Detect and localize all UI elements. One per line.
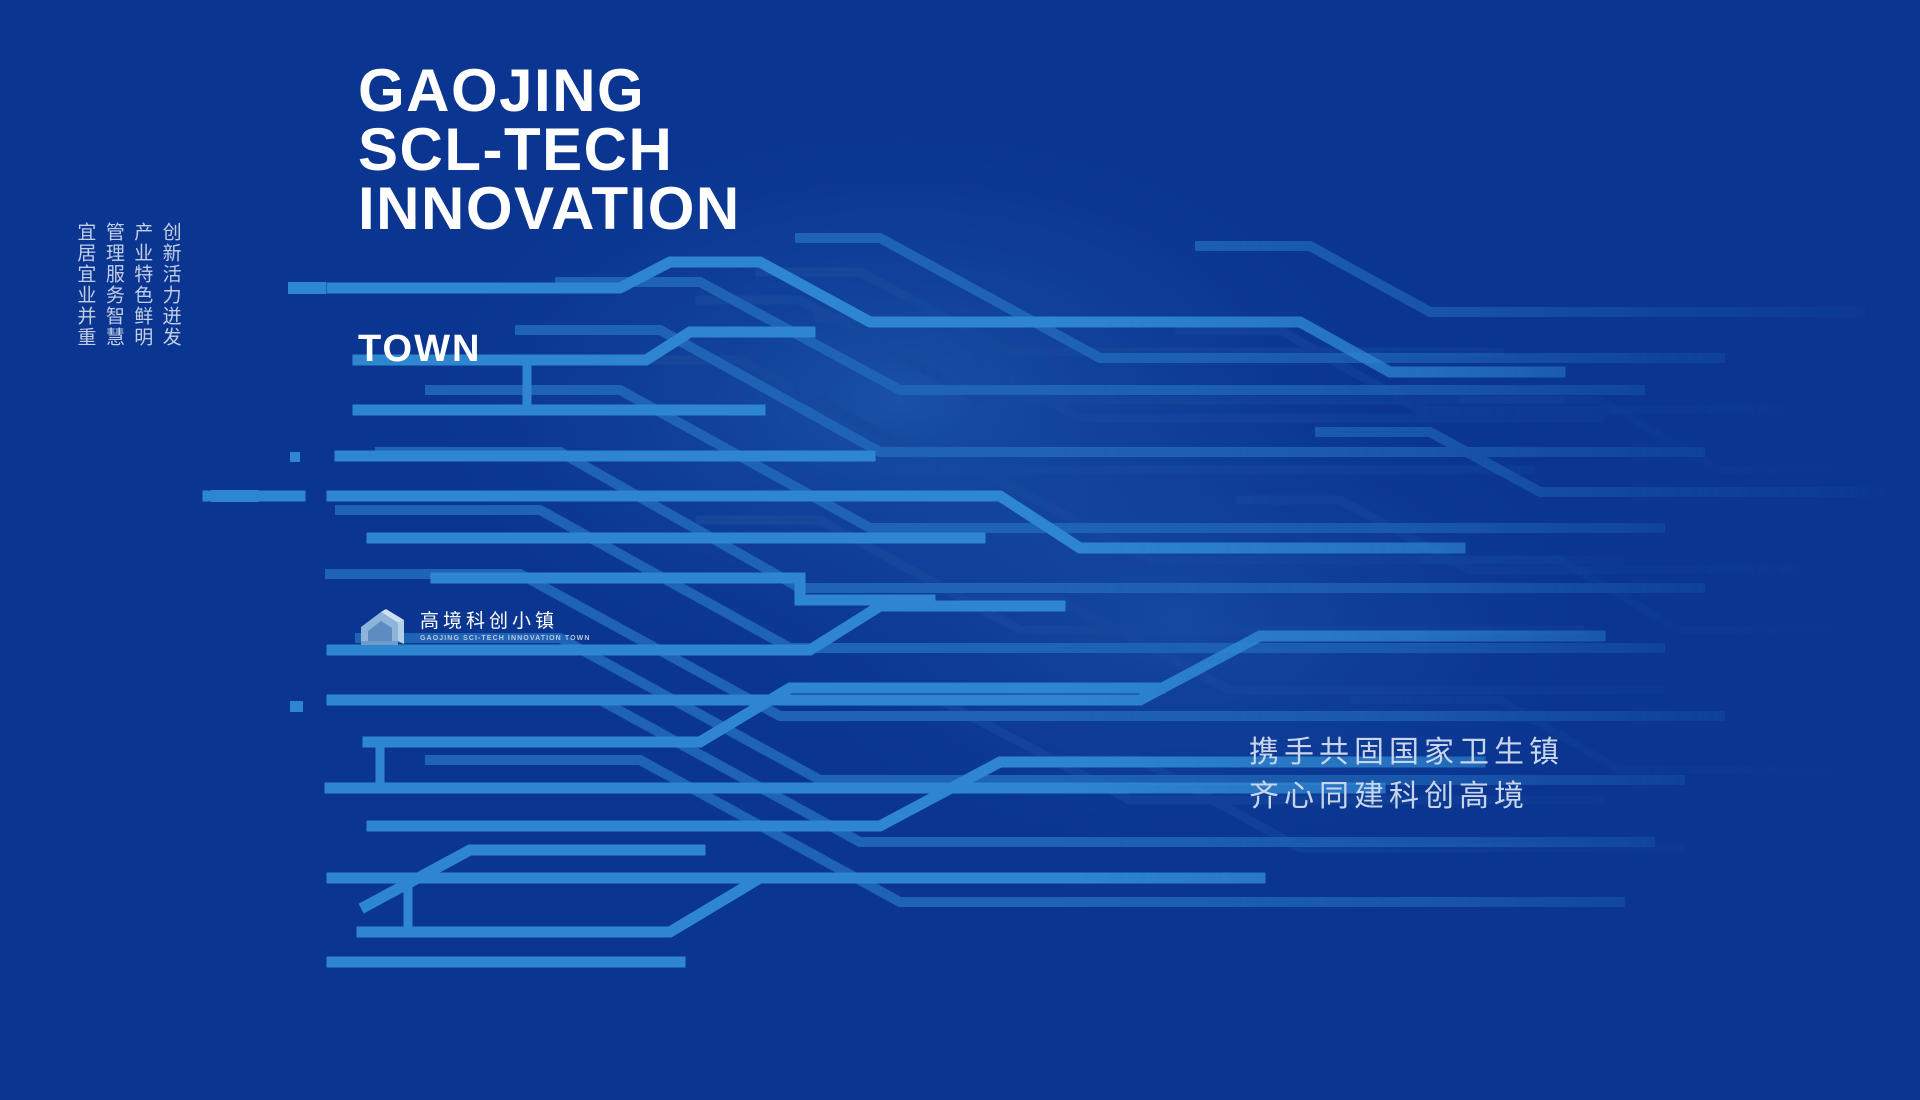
bottom-slogan-line-2: 齐心同建科创高境 (1249, 775, 1564, 819)
logo-lockup: 高境科创小镇 GAOJING SCI-TECH INNOVATION TOWN (358, 607, 591, 647)
bottom-slogan-line-1: 携手共固国家卫生镇 (1249, 731, 1564, 775)
vertical-slogan-col-4: 宜居宜业并重 (74, 222, 96, 348)
circuit-trace-artwork (0, 0, 1920, 1100)
page-title: GAOJING SCL-TECH INNOVATION (358, 62, 741, 238)
vertical-slogan: 创新活力迸发 产业特色鲜明 管理服务智慧 宜居宜业并重 (74, 222, 182, 348)
vertical-slogan-col-1: 创新活力迸发 (159, 222, 181, 348)
logo-chinese-name: 高境科创小镇 (420, 612, 591, 631)
house-building-icon (358, 607, 410, 647)
vertical-slogan-col-2: 产业特色鲜明 (131, 222, 153, 348)
headline-line-2: SCL-TECH (358, 121, 741, 180)
logo-english-name: GAOJING SCI-TECH INNOVATION TOWN (420, 635, 591, 642)
vertical-slogan-col-3: 管理服务智慧 (102, 222, 124, 348)
headline-line-1: GAOJING (358, 62, 741, 121)
headline-subword-town: TOWN (358, 328, 481, 371)
poster-canvas: GAOJING SCL-TECH INNOVATION TOWN 创新活力迸发 … (0, 0, 1920, 1100)
headline-line-3: INNOVATION (358, 180, 741, 239)
bottom-slogan: 携手共固国家卫生镇 齐心同建科创高境 (1249, 731, 1564, 818)
